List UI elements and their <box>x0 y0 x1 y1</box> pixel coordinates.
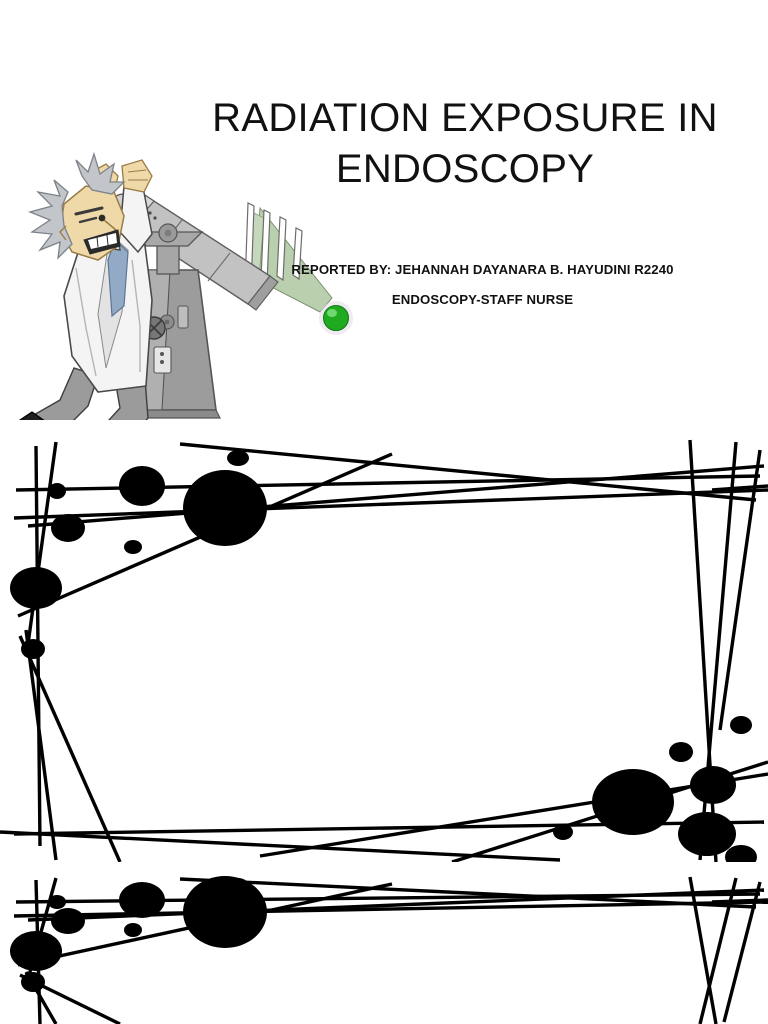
title-line-2: ENDOSCOPY <box>336 147 594 191</box>
reporter-role: ENDOSCOPY-STAFF NURSE <box>230 292 735 307</box>
slide-title: RADIATION EXPOSURE IN ENDOSCOPY REPORTED… <box>0 0 768 425</box>
page-title: RADIATION EXPOSURE IN ENDOSCOPY <box>190 93 740 195</box>
scientist-figure <box>12 154 152 420</box>
abstract-lines-dots-background <box>0 872 768 1024</box>
title-line-1: RADIATION EXPOSURE IN <box>212 96 718 140</box>
slide-how-much-radiation: How much radiation does a medical profes… <box>0 872 768 1024</box>
abstract-lines-dots-background <box>0 430 768 862</box>
slide-what-is-radiation: What is Radiation? -it is the emission o… <box>0 430 768 862</box>
document-page: RADIATION EXPOSURE IN ENDOSCOPY REPORTED… <box>0 0 768 1024</box>
reporter-byline: REPORTED BY: JEHANNAH DAYANARA B. HAYUDI… <box>230 262 735 277</box>
